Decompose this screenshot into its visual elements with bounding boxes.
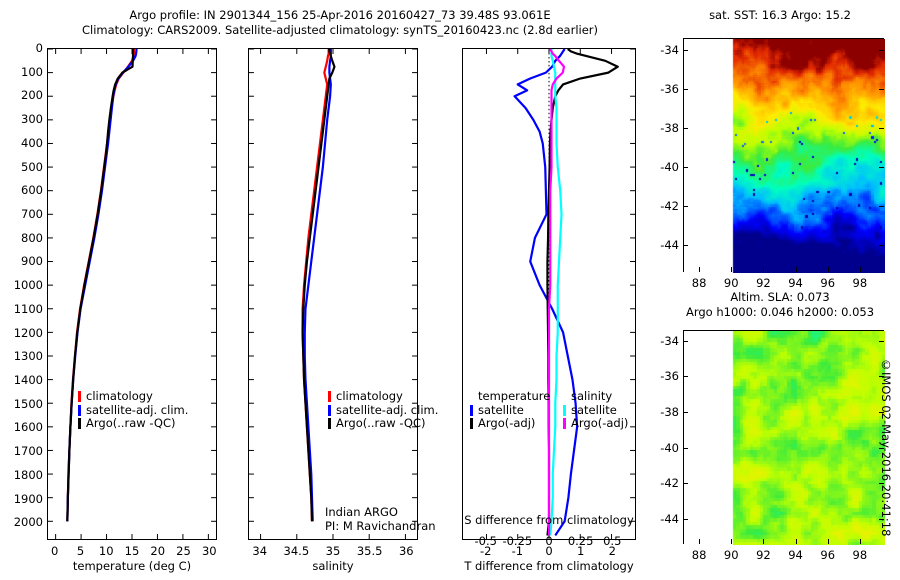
legend-item: Argo(-adj) bbox=[563, 417, 628, 431]
map-y-tickmark bbox=[683, 50, 688, 51]
map-x-tickmark bbox=[731, 267, 732, 272]
legend-label: Argo(..raw -QC) bbox=[86, 417, 176, 431]
map-y-tick: -44 bbox=[643, 238, 679, 252]
map-x-tickmark bbox=[699, 267, 700, 272]
legend-label: satellite-adj. clim. bbox=[86, 404, 188, 418]
axis-tick-label: 1000 bbox=[0, 278, 43, 292]
legend-swatch-temp-argo-adj bbox=[470, 418, 473, 429]
map-x-tickmark bbox=[860, 267, 861, 272]
map-y-tick: -36 bbox=[643, 82, 679, 96]
map-y-tickmark bbox=[879, 341, 884, 342]
axis-tick-label: 500 bbox=[0, 160, 43, 174]
axis-tick-label: 1500 bbox=[0, 397, 43, 411]
axis-tick-label: 2 bbox=[592, 544, 632, 558]
legend-item: satellite bbox=[563, 404, 628, 418]
legend-swatch-satellite-adj bbox=[328, 405, 331, 416]
legend-item: satellite-adj. clim. bbox=[328, 404, 438, 418]
axis-tick-label: 36 bbox=[384, 544, 428, 558]
legend-label: satellite bbox=[478, 404, 524, 418]
map-y-tickmark bbox=[683, 167, 688, 168]
legend-swatch-argo-raw bbox=[328, 418, 331, 429]
legend-group-heading: salinity bbox=[563, 390, 628, 404]
map-y-tick: -42 bbox=[643, 476, 679, 490]
axis-tick-label: 1600 bbox=[0, 420, 43, 434]
legend-item: satellite bbox=[470, 404, 550, 418]
legend-label: satellite bbox=[571, 404, 617, 418]
map-y-tickmark bbox=[683, 341, 688, 342]
sst-map-heading: sat. SST: 16.3 Argo: 15.2 bbox=[660, 8, 900, 22]
map-y-tickmark bbox=[683, 483, 688, 484]
legend-label: Argo(-adj) bbox=[478, 417, 535, 431]
map-x-tickmark bbox=[828, 539, 829, 544]
map-y-tickmark bbox=[879, 128, 884, 129]
legend-item: Argo(-adj) bbox=[470, 417, 550, 431]
map-x-tickmark bbox=[796, 539, 797, 544]
legend-group-label: salinity bbox=[571, 390, 612, 404]
sla-map-heading-line1: Altim. SLA: 0.073 bbox=[660, 290, 900, 304]
map-x-tickmark bbox=[731, 539, 732, 544]
legend-swatch-satellite-adj bbox=[78, 405, 81, 416]
legend-item: Argo(..raw -QC) bbox=[328, 417, 438, 431]
map-y-tickmark bbox=[879, 245, 884, 246]
credit-text: ©IMOS 02-May-2016 20:41:18 bbox=[879, 358, 893, 536]
map-y-tick: -40 bbox=[643, 160, 679, 174]
legend-label: climatology bbox=[86, 390, 153, 404]
axis-tick-label: 1800 bbox=[0, 468, 43, 482]
difference-profile-panel bbox=[462, 48, 636, 540]
salinity-legend: climatology satellite-adj. clim. Argo(..… bbox=[328, 390, 438, 431]
axis-tick-label: 1200 bbox=[0, 326, 43, 340]
axis-tick-label: 300 bbox=[0, 112, 43, 126]
map-x-tick: 98 bbox=[840, 276, 880, 290]
map-y-tick: -38 bbox=[643, 121, 679, 135]
map-y-tickmark bbox=[683, 412, 688, 413]
axis-tick-label: 800 bbox=[0, 231, 43, 245]
legend-label: satellite-adj. clim. bbox=[336, 404, 438, 418]
axis-tick-label: 900 bbox=[0, 254, 43, 268]
map-y-tick: -34 bbox=[643, 43, 679, 57]
attribution-block: Indian ARGO PI: M Ravichandran bbox=[325, 505, 436, 533]
axis-tick-label: 400 bbox=[0, 136, 43, 150]
temperature-legend: climatology satellite-adj. clim. Argo(..… bbox=[78, 390, 188, 431]
axis-tick-label: 1300 bbox=[0, 349, 43, 363]
salinity-profile-panel bbox=[248, 48, 418, 540]
map-x-tickmark bbox=[763, 267, 764, 272]
map-y-tickmark bbox=[683, 245, 688, 246]
map-y-tickmark bbox=[879, 206, 884, 207]
legend-item: climatology bbox=[328, 390, 438, 404]
map-y-tickmark bbox=[683, 519, 688, 520]
salinity-axis-label: salinity bbox=[248, 559, 418, 573]
map-y-tick: -36 bbox=[643, 369, 679, 383]
map-y-tick: -42 bbox=[643, 199, 679, 213]
map-y-tick: -34 bbox=[643, 334, 679, 348]
legend-swatch-climatology bbox=[78, 391, 81, 402]
legend-swatch-sal-argo-adj bbox=[563, 418, 566, 429]
map-x-tickmark bbox=[860, 539, 861, 544]
difference-salinity-axis-label: S difference from climatology bbox=[455, 513, 643, 527]
map-x-tickmark bbox=[699, 539, 700, 544]
map-x-tickmark bbox=[796, 267, 797, 272]
temperature-axis-label: temperature (deg C) bbox=[47, 559, 217, 573]
legend-item: climatology bbox=[78, 390, 188, 404]
legend-group-heading: temperature bbox=[470, 390, 550, 404]
axis-tick-label: 1400 bbox=[0, 373, 43, 387]
page-title-line1: Argo profile: IN 2901344_156 25-Apr-2016… bbox=[0, 8, 680, 22]
difference-legend-salinity: salinity satellite Argo(-adj) bbox=[563, 390, 628, 431]
legend-item: Argo(..raw -QC) bbox=[78, 417, 188, 431]
map-x-tick: 98 bbox=[840, 548, 880, 562]
map-y-tickmark bbox=[879, 50, 884, 51]
difference-temperature-axis-label: T difference from climatology bbox=[455, 559, 643, 573]
legend-label: Argo(-adj) bbox=[571, 417, 628, 431]
sla-map-panel bbox=[683, 330, 884, 544]
legend-swatch-argo-raw bbox=[78, 418, 81, 429]
map-y-tickmark bbox=[683, 89, 688, 90]
map-y-tickmark bbox=[683, 448, 688, 449]
map-y-tick: -40 bbox=[643, 441, 679, 455]
legend-swatch-temp-satellite bbox=[470, 405, 473, 416]
sst-map-panel bbox=[683, 38, 884, 272]
map-y-tickmark bbox=[683, 206, 688, 207]
map-y-tickmark bbox=[879, 167, 884, 168]
legend-swatch-sal-satellite bbox=[563, 405, 566, 416]
legend-label: Argo(..raw -QC) bbox=[336, 417, 426, 431]
attribution-line1: Indian ARGO bbox=[325, 505, 436, 519]
difference-profile-plot bbox=[463, 49, 635, 539]
map-y-tickmark bbox=[879, 89, 884, 90]
temperature-profile-panel bbox=[47, 48, 217, 540]
axis-tick-label: 200 bbox=[0, 88, 43, 102]
salinity-profile-plot bbox=[249, 49, 417, 539]
legend-group-label: temperature bbox=[478, 390, 550, 404]
map-x-tickmark bbox=[828, 267, 829, 272]
map-y-tick: -38 bbox=[643, 405, 679, 419]
axis-tick-label: 2000 bbox=[0, 515, 43, 529]
temperature-profile-plot bbox=[48, 49, 216, 539]
legend-item: satellite-adj. clim. bbox=[78, 404, 188, 418]
axis-tick-label: 1100 bbox=[0, 302, 43, 316]
axis-tick-label: 1900 bbox=[0, 492, 43, 506]
attribution-line2: PI: M Ravichandran bbox=[325, 519, 436, 533]
axis-tick-label: 0 bbox=[0, 41, 43, 55]
legend-label: climatology bbox=[336, 390, 403, 404]
axis-tick-label: 600 bbox=[0, 183, 43, 197]
map-y-tickmark bbox=[683, 128, 688, 129]
legend-swatch-climatology bbox=[328, 391, 331, 402]
axis-tick-label: 1700 bbox=[0, 444, 43, 458]
sst-heatmap bbox=[684, 39, 885, 273]
axis-tick-label: 700 bbox=[0, 207, 43, 221]
map-x-tickmark bbox=[763, 539, 764, 544]
axis-tick-label: 100 bbox=[0, 65, 43, 79]
sla-heatmap bbox=[684, 331, 885, 545]
axis-tick-label: 30 bbox=[189, 544, 229, 558]
page-title-line2: Climatology: CARS2009. Satellite-adjuste… bbox=[0, 23, 680, 37]
map-y-tick: -44 bbox=[643, 512, 679, 526]
map-y-tickmark bbox=[683, 376, 688, 377]
sla-map-heading-line2: Argo h1000: 0.046 h2000: 0.053 bbox=[655, 305, 900, 319]
difference-legend-temperature: temperature satellite Argo(-adj) bbox=[470, 390, 550, 431]
